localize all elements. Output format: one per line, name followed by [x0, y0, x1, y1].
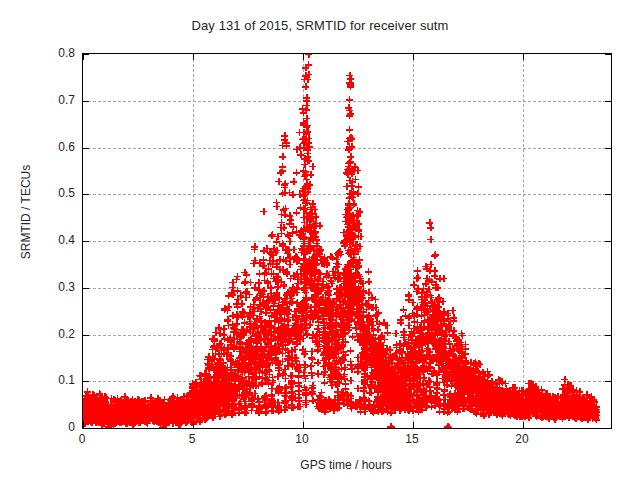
data-point — [500, 396, 507, 403]
data-point — [472, 390, 479, 397]
data-point — [117, 404, 124, 411]
data-point — [453, 404, 460, 411]
data-point — [288, 379, 295, 386]
data-point — [358, 336, 365, 343]
data-point — [303, 97, 310, 104]
data-point — [468, 393, 475, 400]
data-point — [551, 404, 558, 411]
data-point — [296, 191, 303, 198]
data-point — [527, 380, 534, 387]
data-point — [391, 384, 398, 391]
data-point — [143, 413, 150, 420]
data-point — [348, 183, 355, 190]
data-point — [227, 373, 234, 380]
data-point — [284, 325, 291, 332]
data-point — [89, 392, 96, 399]
data-point — [302, 389, 309, 396]
data-point — [354, 368, 361, 375]
data-point — [495, 403, 502, 410]
data-point — [339, 354, 346, 361]
data-point — [380, 364, 387, 371]
data-point — [175, 419, 182, 426]
data-point — [361, 344, 368, 351]
data-point — [499, 404, 506, 411]
data-point — [168, 400, 175, 407]
data-point — [461, 387, 468, 394]
data-point — [283, 142, 290, 149]
data-point — [327, 303, 334, 310]
data-point — [401, 400, 408, 407]
data-point — [384, 402, 391, 409]
data-point — [173, 402, 180, 409]
data-point — [271, 310, 278, 317]
data-point — [392, 405, 399, 412]
data-point — [467, 359, 474, 366]
y-tick — [83, 194, 89, 195]
data-point — [307, 204, 314, 211]
data-point — [346, 299, 353, 306]
data-point — [358, 325, 365, 332]
data-point — [583, 408, 590, 415]
data-point — [506, 387, 513, 394]
data-point — [335, 404, 342, 411]
data-point — [553, 408, 560, 415]
data-point — [124, 420, 131, 427]
data-point — [557, 411, 564, 418]
data-point — [544, 408, 551, 415]
data-point — [500, 399, 507, 406]
data-point — [349, 220, 356, 227]
data-point — [534, 392, 541, 399]
data-point — [251, 390, 258, 397]
data-point — [346, 126, 353, 133]
data-point — [385, 367, 392, 374]
data-point — [193, 402, 200, 409]
data-point — [592, 413, 599, 420]
data-point — [345, 310, 352, 317]
data-point — [104, 405, 111, 412]
data-point — [335, 249, 342, 256]
data-point — [195, 404, 202, 411]
data-point — [345, 289, 352, 296]
data-point — [121, 399, 128, 406]
data-point — [102, 405, 109, 412]
data-point — [549, 409, 556, 416]
data-point — [433, 384, 440, 391]
x-tick-label: 10 — [295, 432, 308, 446]
data-point — [493, 397, 500, 404]
data-point — [160, 425, 167, 429]
data-point — [194, 392, 201, 399]
data-point — [520, 406, 527, 413]
data-point — [397, 388, 404, 395]
data-point — [282, 389, 289, 396]
data-point — [327, 325, 334, 332]
data-point — [565, 399, 572, 406]
data-point — [238, 329, 245, 336]
data-point — [118, 404, 125, 411]
data-point — [468, 392, 475, 399]
data-point — [486, 385, 493, 392]
data-point — [309, 334, 316, 341]
data-point — [423, 308, 430, 315]
data-point — [129, 415, 136, 422]
data-point — [262, 326, 269, 333]
data-point — [579, 407, 586, 414]
data-point — [108, 406, 115, 413]
data-point — [491, 405, 498, 412]
data-point — [158, 414, 165, 421]
data-point — [420, 385, 427, 392]
data-point — [268, 398, 275, 405]
data-point — [223, 395, 230, 402]
data-point — [461, 398, 468, 405]
data-point — [525, 380, 532, 387]
data-point — [368, 340, 375, 347]
data-point — [161, 414, 168, 421]
data-point — [471, 396, 478, 403]
data-point — [427, 292, 434, 299]
data-point — [421, 301, 428, 308]
data-point — [476, 384, 483, 391]
data-point — [202, 412, 209, 419]
data-point — [451, 359, 458, 366]
data-point — [352, 271, 359, 278]
data-point — [216, 390, 223, 397]
data-point — [362, 333, 369, 340]
data-point — [453, 399, 460, 406]
data-point — [376, 371, 383, 378]
data-point — [189, 380, 196, 387]
data-point — [152, 411, 159, 418]
data-point — [506, 400, 513, 407]
data-point — [348, 316, 355, 323]
data-point — [211, 335, 218, 342]
data-point — [269, 397, 276, 404]
data-point — [505, 409, 512, 416]
data-point — [195, 395, 202, 402]
data-point — [323, 335, 330, 342]
data-point — [121, 411, 128, 418]
data-point — [84, 397, 91, 404]
data-point — [432, 393, 439, 400]
data-point — [562, 404, 569, 411]
data-point — [546, 393, 553, 400]
data-point — [351, 247, 358, 254]
data-point — [236, 340, 243, 347]
data-point — [586, 413, 593, 420]
data-point — [105, 411, 112, 418]
data-point — [387, 397, 394, 404]
data-point — [86, 401, 93, 408]
data-point — [515, 404, 522, 411]
data-point — [294, 280, 301, 287]
data-point — [441, 352, 448, 359]
data-point — [86, 411, 93, 418]
data-point — [336, 287, 343, 294]
data-point — [397, 367, 404, 374]
data-point — [585, 400, 592, 407]
data-point — [301, 120, 308, 127]
data-point — [538, 400, 545, 407]
data-point — [218, 390, 225, 397]
data-point — [501, 394, 508, 401]
data-point — [301, 272, 308, 279]
data-point — [523, 396, 530, 403]
data-point — [409, 407, 416, 414]
data-point — [154, 402, 161, 409]
data-point — [354, 354, 361, 361]
data-point — [352, 399, 359, 406]
data-point — [463, 371, 470, 378]
data-point — [122, 408, 129, 415]
data-point — [482, 400, 489, 407]
data-point — [301, 121, 308, 128]
data-point — [371, 345, 378, 352]
data-point — [575, 402, 582, 409]
data-point — [346, 143, 353, 150]
data-point — [264, 293, 271, 300]
data-point — [545, 412, 552, 419]
data-point — [471, 378, 478, 385]
data-point — [114, 395, 121, 402]
data-point — [500, 399, 507, 406]
data-point — [301, 251, 308, 258]
data-point — [167, 396, 174, 403]
data-point — [311, 268, 318, 275]
data-point — [496, 384, 503, 391]
y-tick-label: 0.8 — [58, 46, 75, 60]
data-point — [499, 394, 506, 401]
data-point — [440, 402, 447, 409]
data-point — [549, 403, 556, 410]
data-point — [567, 397, 574, 404]
data-point — [353, 311, 360, 318]
data-point — [419, 406, 426, 413]
data-point — [201, 387, 208, 394]
data-point — [372, 342, 379, 349]
data-point — [131, 409, 138, 416]
data-point — [206, 390, 213, 397]
y-tick — [83, 428, 89, 429]
data-point — [354, 301, 361, 308]
data-point — [193, 394, 200, 401]
data-point — [414, 401, 421, 408]
data-point — [184, 399, 191, 406]
data-point — [235, 366, 242, 373]
data-point — [241, 369, 248, 376]
data-point — [235, 404, 242, 411]
data-point — [195, 414, 202, 421]
data-point — [323, 270, 330, 277]
data-point — [510, 406, 517, 413]
data-point — [409, 337, 416, 344]
data-point — [434, 322, 441, 329]
data-point — [388, 423, 395, 428]
data-point — [318, 396, 325, 403]
data-point — [322, 348, 329, 355]
data-point — [460, 378, 467, 385]
data-point — [240, 347, 247, 354]
data-point — [457, 397, 464, 404]
data-point — [262, 309, 269, 316]
data-point — [317, 307, 324, 314]
data-point — [154, 403, 161, 410]
data-point — [300, 238, 307, 245]
data-point — [494, 411, 501, 418]
data-point — [287, 372, 294, 379]
data-point — [500, 409, 507, 416]
data-point — [157, 410, 164, 417]
data-point — [299, 230, 306, 237]
data-point — [591, 414, 598, 421]
data-point — [575, 408, 582, 415]
data-point — [451, 380, 458, 387]
data-point — [88, 413, 95, 420]
data-point — [546, 409, 553, 416]
data-point — [348, 305, 355, 312]
data-point — [380, 319, 387, 326]
data-point — [498, 378, 505, 385]
data-point — [214, 373, 221, 380]
data-point — [451, 368, 458, 375]
data-point — [403, 341, 410, 348]
data-point — [349, 258, 356, 265]
data-point — [489, 395, 496, 402]
data-point — [184, 392, 191, 399]
data-point — [335, 275, 342, 282]
data-point — [347, 81, 354, 88]
data-point — [329, 378, 336, 385]
data-point — [146, 409, 153, 416]
data-point — [527, 391, 534, 398]
data-point — [393, 393, 400, 400]
data-point — [245, 346, 252, 353]
data-point — [558, 401, 565, 408]
data-point — [83, 404, 89, 411]
data-point — [309, 230, 316, 237]
data-point — [509, 387, 516, 394]
data-point — [355, 293, 362, 300]
data-point — [307, 307, 314, 314]
data-point — [323, 270, 330, 277]
data-point — [395, 389, 402, 396]
data-point — [351, 299, 358, 306]
data-point — [260, 256, 267, 263]
data-point — [195, 401, 202, 408]
data-point — [142, 398, 149, 405]
data-point — [239, 356, 246, 363]
data-point — [169, 393, 176, 400]
data-point — [363, 326, 370, 333]
data-point — [332, 306, 339, 313]
data-point — [291, 289, 298, 296]
data-point — [248, 397, 255, 404]
data-point — [99, 412, 106, 419]
data-point — [144, 413, 151, 420]
data-point — [425, 329, 432, 336]
data-point — [210, 391, 217, 398]
data-point — [105, 420, 112, 427]
data-point — [303, 297, 310, 304]
data-point — [481, 402, 488, 409]
data-point — [396, 396, 403, 403]
data-point — [253, 346, 260, 353]
data-point — [266, 257, 273, 264]
data-point — [332, 311, 339, 318]
data-point — [279, 342, 286, 349]
data-point — [479, 393, 486, 400]
data-point — [196, 411, 203, 418]
data-point — [344, 397, 351, 404]
y-tick-label: 0.7 — [58, 93, 75, 107]
data-point — [591, 410, 598, 417]
data-point — [265, 355, 272, 362]
data-point — [331, 400, 338, 407]
data-point — [570, 396, 577, 403]
data-point — [188, 405, 195, 412]
data-point — [344, 307, 351, 314]
data-point — [312, 283, 319, 290]
data-point — [454, 376, 461, 383]
data-point — [94, 400, 101, 407]
data-point — [466, 384, 473, 391]
data-point — [583, 407, 590, 414]
data-point — [368, 338, 375, 345]
data-point — [248, 400, 255, 407]
data-point — [537, 399, 544, 406]
data-point — [156, 419, 163, 426]
data-point — [105, 420, 112, 427]
data-point — [440, 392, 447, 399]
data-point — [375, 360, 382, 367]
data-point — [196, 397, 203, 404]
data-point — [590, 396, 597, 403]
data-point — [83, 404, 90, 411]
data-point — [176, 403, 183, 410]
data-point — [166, 418, 173, 425]
data-point — [241, 408, 248, 415]
data-point — [191, 393, 198, 400]
data-point — [279, 307, 286, 314]
data-point — [478, 387, 485, 394]
data-point — [284, 289, 291, 296]
data-point — [227, 357, 234, 364]
data-point — [162, 407, 169, 414]
data-point — [220, 331, 227, 338]
data-point — [459, 354, 466, 361]
data-point — [484, 389, 491, 396]
data-point — [394, 393, 401, 400]
data-point — [312, 220, 319, 227]
data-point — [477, 405, 484, 412]
data-point — [267, 250, 274, 257]
data-point — [535, 399, 542, 406]
data-point — [517, 395, 524, 402]
data-point — [91, 417, 98, 424]
data-point — [433, 389, 440, 396]
data-point — [532, 391, 539, 398]
data-point — [369, 325, 376, 332]
data-point — [235, 366, 242, 373]
data-point — [355, 315, 362, 322]
data-point — [329, 254, 336, 261]
data-point — [421, 355, 428, 362]
data-point — [207, 385, 214, 392]
data-point — [429, 337, 436, 344]
data-point — [320, 345, 327, 352]
data-point — [435, 352, 442, 359]
